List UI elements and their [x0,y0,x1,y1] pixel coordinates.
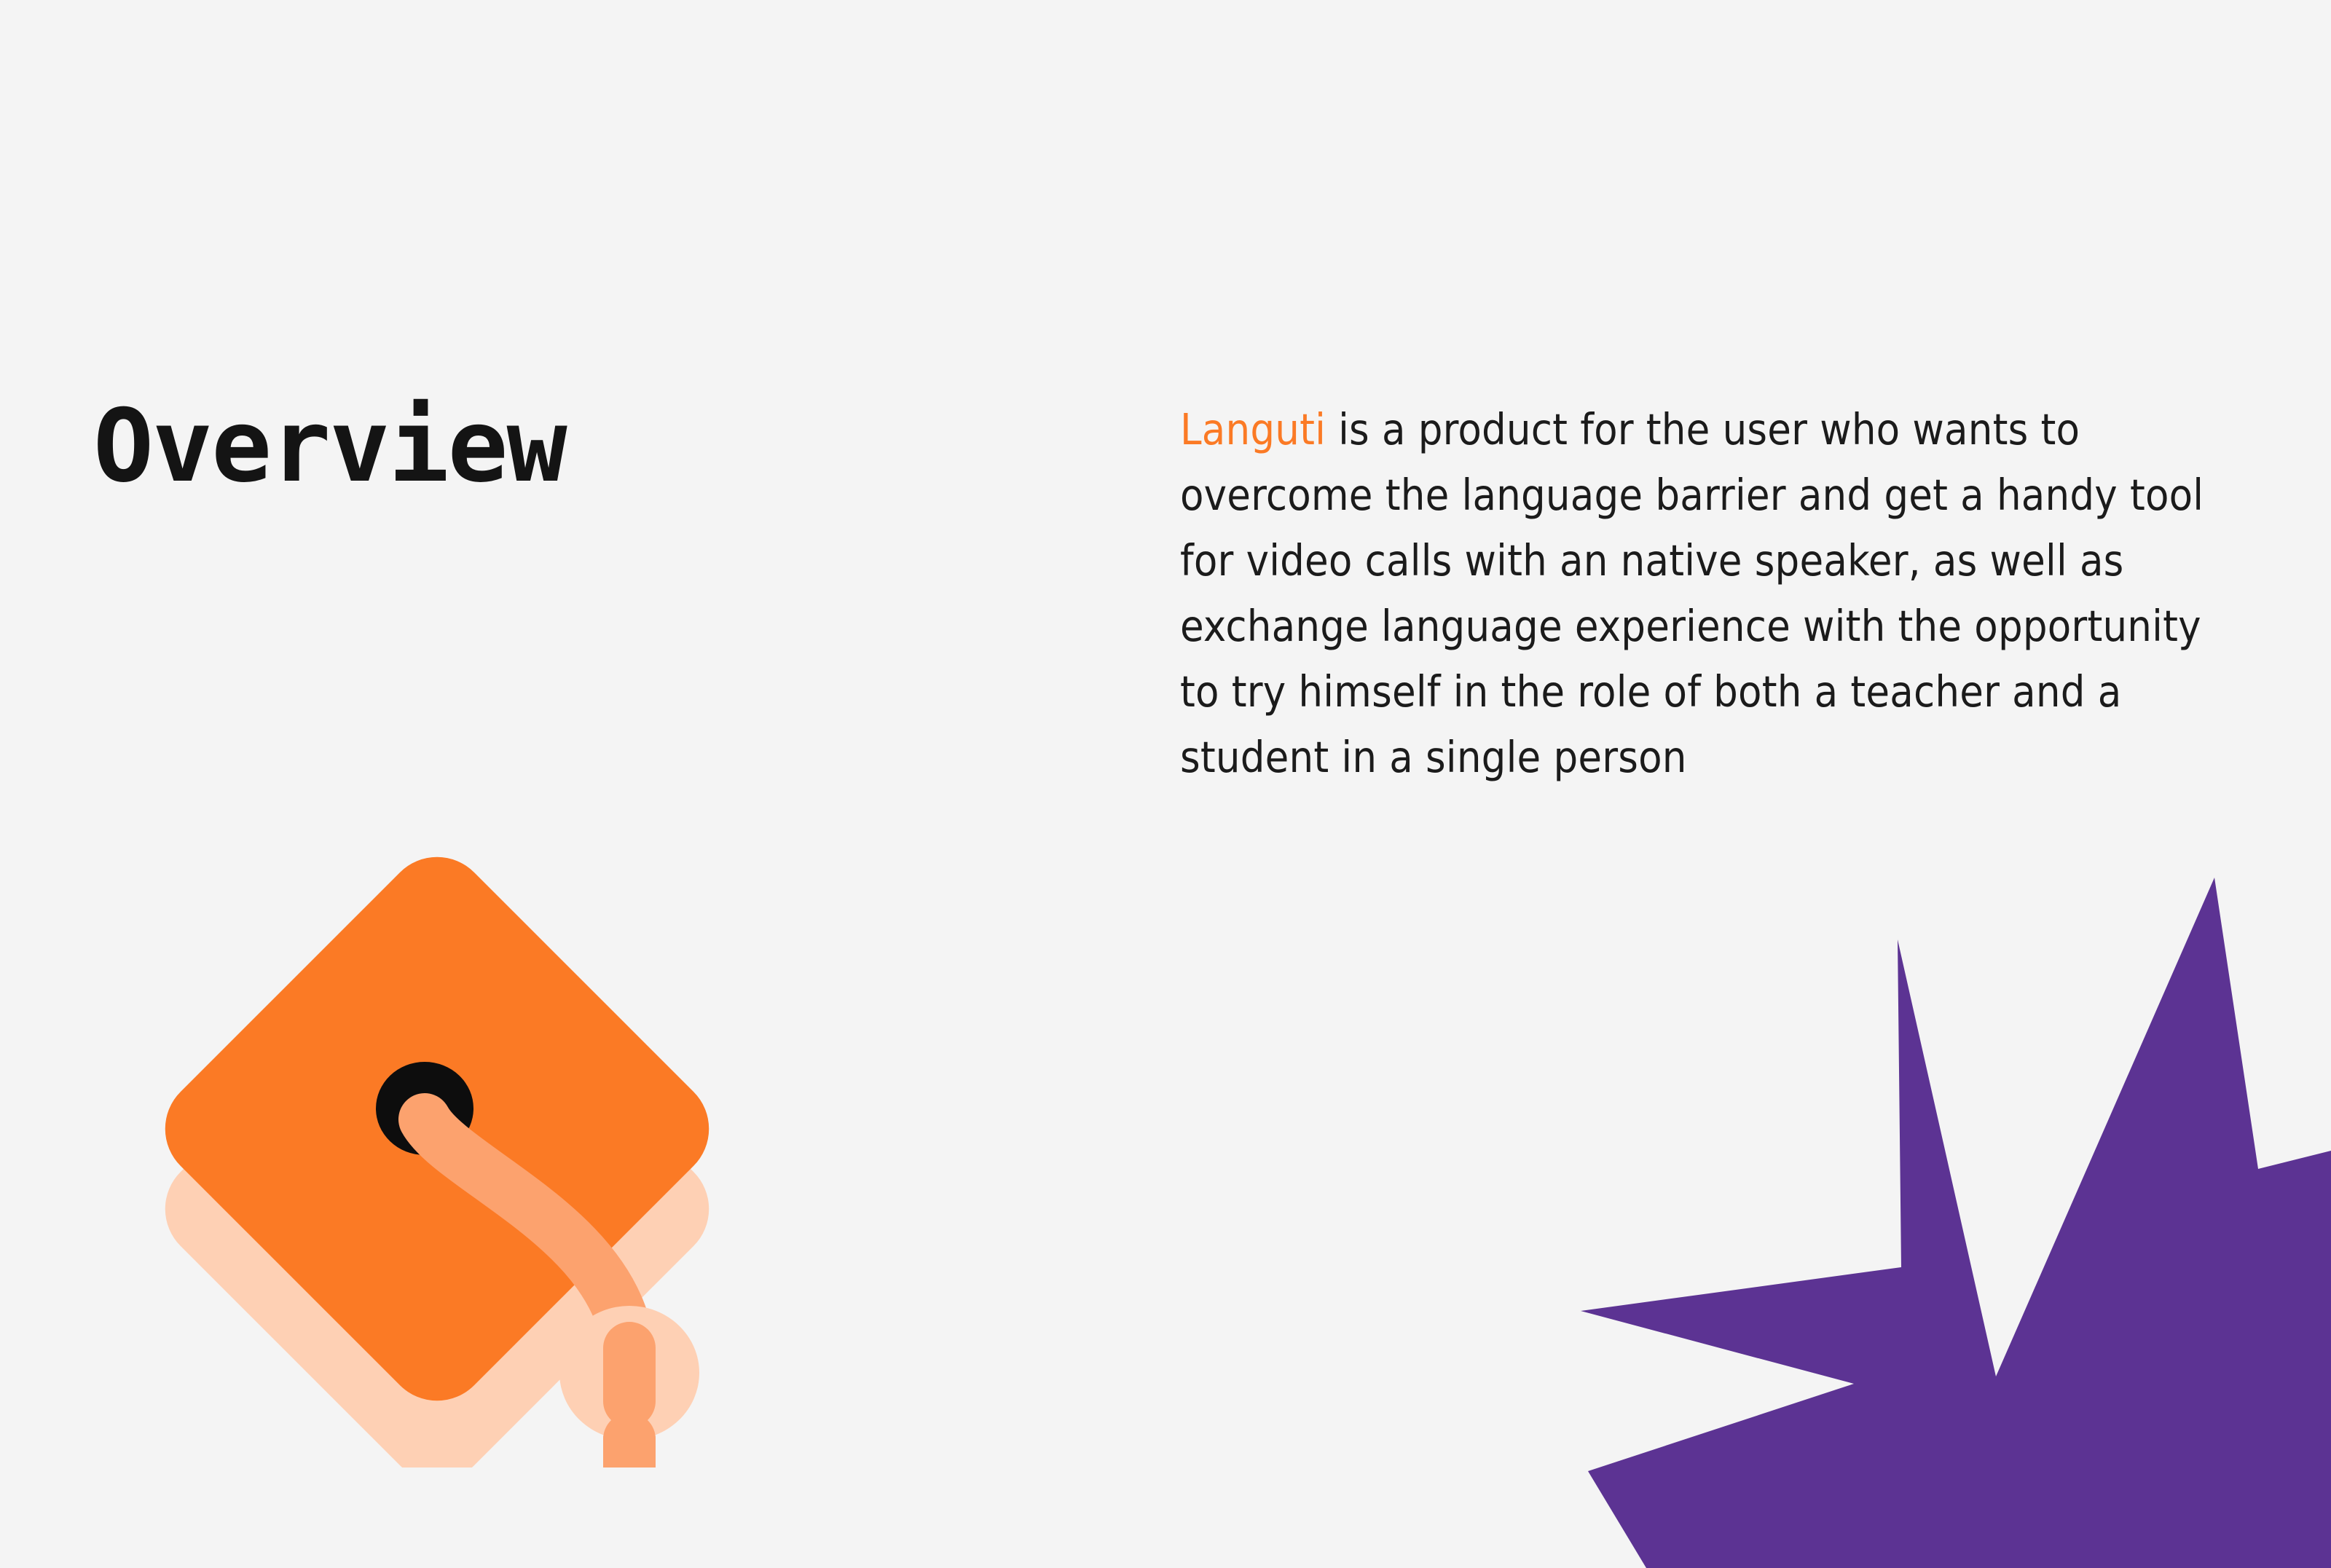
overview-body-text: is a product for the user who wants to o… [1180,404,2204,782]
overview-paragraph: Languti is a product for the user who wa… [1180,397,2236,790]
brand-name-highlight: Languti [1180,404,1326,454]
page-title: Overview [93,396,566,497]
graduation-cap-icon [109,790,765,1467]
slide-canvas: Overview Languti is a product for the us… [0,0,2331,1568]
starburst-icon [1559,838,2331,1568]
